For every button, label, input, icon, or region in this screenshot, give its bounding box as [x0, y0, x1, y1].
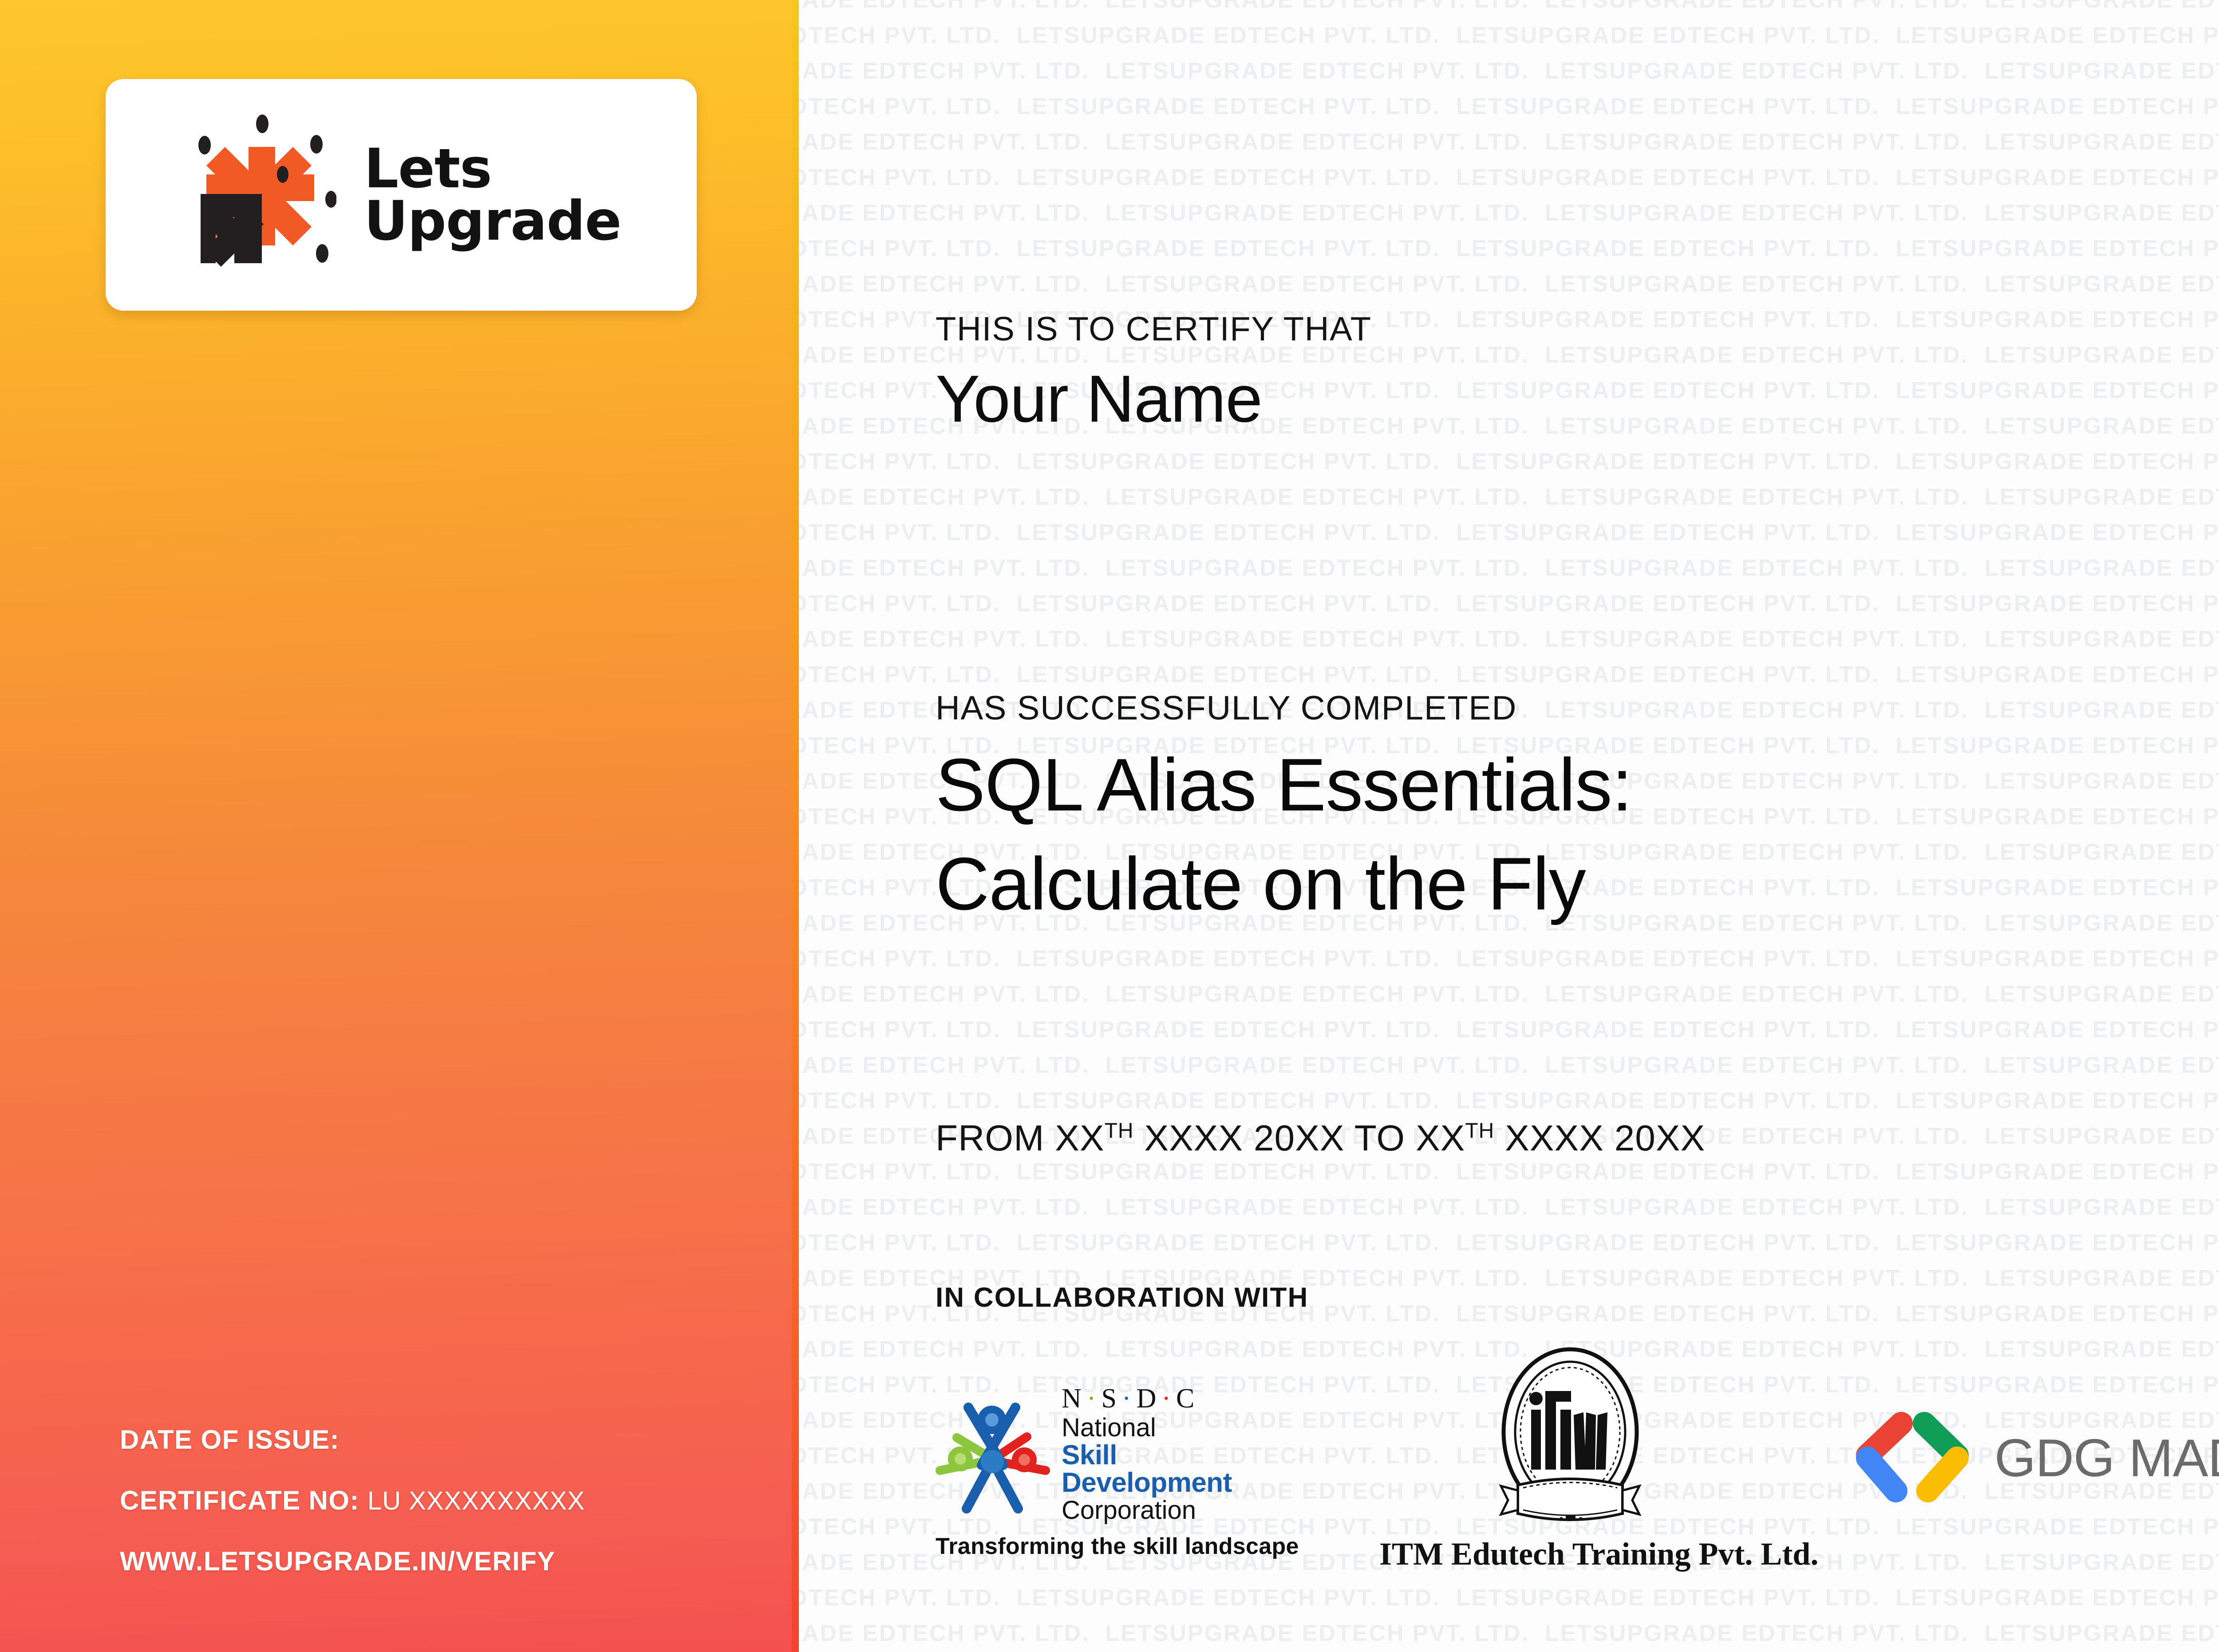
partner-gdg: GDG MAD	[1850, 1409, 2219, 1507]
recipient-name: Your Name	[936, 360, 1262, 437]
certificate-no-row: CERTIFICATE NO: LU XXXXXXXXXX	[120, 1485, 768, 1516]
completed-label: HAS SUCCESSFULLY COMPLETED	[936, 689, 1517, 727]
course-title-line2: Calculate on the Fly	[936, 841, 1586, 927]
certificate-body-panel: LETSUPGRADE EDTECH PVT. LTD. LETSUPGRADE…	[799, 0, 2219, 1652]
gdg-label: GDG MAD	[1994, 1427, 2219, 1489]
date-mid: XXXX 20XX TO XX	[1134, 1118, 1465, 1158]
certificate-no-value: LU XXXXXXXXXX	[367, 1486, 585, 1515]
certificate-content: THIS IS TO CERTIFY THAT Your Name HAS SU…	[936, 0, 2219, 1652]
gdg-chevrons-icon	[1850, 1409, 1974, 1507]
nsdc-line-skill-development: Skill Development	[1062, 1442, 1286, 1497]
date-ordinal-1: TH	[1105, 1119, 1134, 1143]
brand-logo-card: Lets Upgrade	[106, 79, 697, 311]
partner-logo-row: N·S·D·C National Skill Development Corpo…	[936, 1358, 2219, 1607]
nsdc-line-national: National	[1062, 1415, 1286, 1441]
brand-wordmark-line1: Lets	[364, 142, 621, 195]
itm-seal-icon	[1495, 1345, 1646, 1531]
collaboration-label: IN COLLABORATION WITH	[936, 1282, 1309, 1313]
date-of-issue-row: DATE OF ISSUE:	[120, 1424, 768, 1455]
certificate-meta-block: DATE OF ISSUE: CERTIFICATE NO: LU XXXXXX…	[120, 1424, 768, 1577]
nsdc-abbreviation: N·S·D·C	[1062, 1385, 1286, 1412]
nsdc-figures-icon	[936, 1394, 1051, 1514]
brand-wordmark: Lets Upgrade	[364, 142, 621, 248]
itm-company-name: ITM Edutech Training Pvt. Ltd.	[1379, 1536, 1761, 1573]
course-title-line1: SQL Alias Essentials:	[936, 742, 1632, 828]
partner-nsdc: N·S·D·C National Skill Development Corpo…	[936, 1385, 1286, 1560]
date-of-issue-label: DATE OF ISSUE:	[120, 1425, 340, 1454]
verify-url[interactable]: WWW.LETSUPGRADE.IN/VERIFY	[120, 1546, 768, 1577]
date-prefix: FROM XX	[936, 1118, 1105, 1158]
nsdc-line-corporation: Corporation	[1062, 1498, 1286, 1523]
date-ordinal-2: TH	[1465, 1119, 1494, 1143]
course-date-range: FROM XXTH XXXX 20XX TO XXTH XXXX 20XX	[936, 1118, 1705, 1159]
certify-label: THIS IS TO CERTIFY THAT	[936, 310, 1372, 348]
nsdc-tagline: Transforming the skill landscape	[936, 1533, 1286, 1560]
letsupgrade-logo-icon	[181, 112, 336, 277]
certificate-no-label: CERTIFICATE NO:	[120, 1486, 359, 1515]
partner-itm: ITM Edutech Training Pvt. Ltd.	[1379, 1345, 1761, 1573]
certificate-page: Lets Upgrade DATE OF ISSUE: CERTIFICATE …	[0, 0, 2219, 1652]
brand-wordmark-line2: Upgrade	[364, 195, 621, 247]
date-suffix: XXXX 20XX	[1494, 1118, 1705, 1158]
